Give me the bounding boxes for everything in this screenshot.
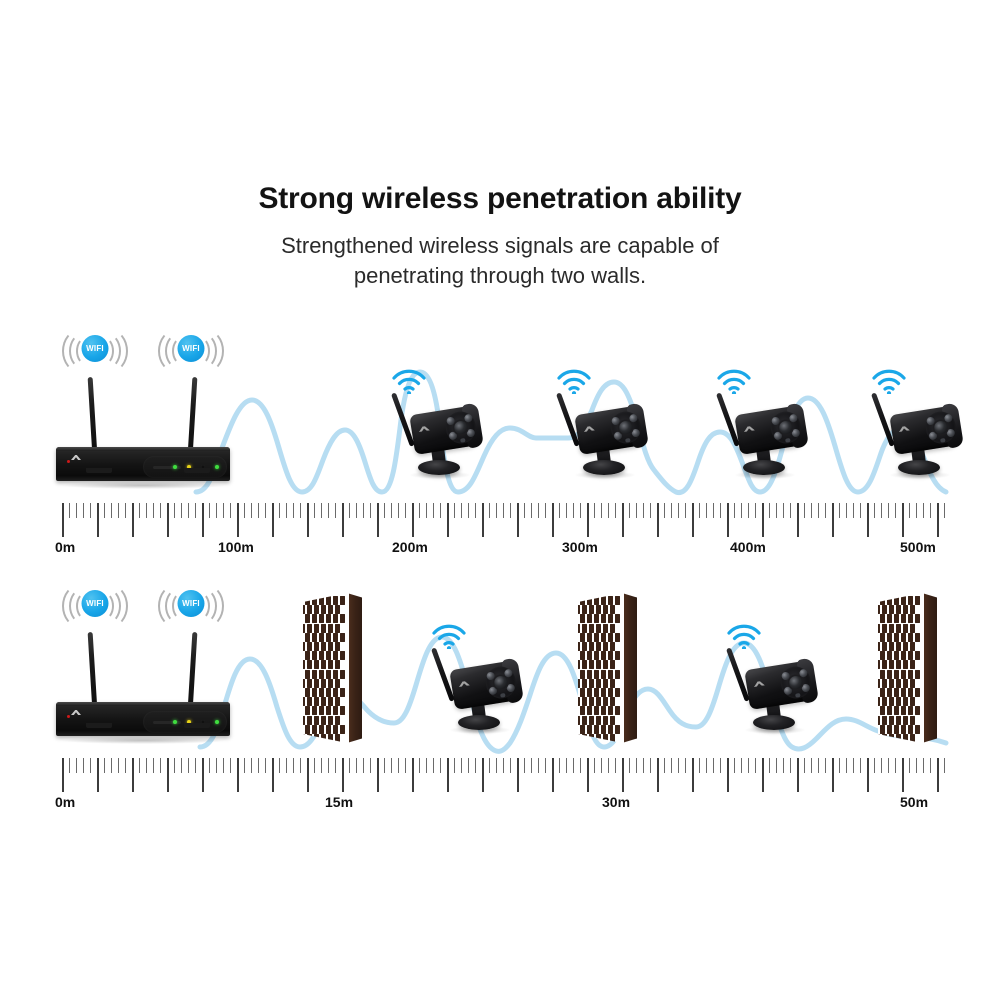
brick (312, 651, 317, 660)
brick (314, 734, 319, 743)
ruler-tick-minor (335, 758, 336, 773)
ruler-tick-major (482, 503, 484, 537)
brick (303, 697, 305, 706)
brick-row (878, 624, 915, 633)
brick (335, 734, 340, 743)
brick (333, 725, 338, 734)
brick (580, 670, 585, 679)
ruler-tick-minor (349, 758, 350, 773)
brick-row (580, 596, 620, 605)
ruler-tick-major (412, 758, 414, 792)
brick (319, 670, 324, 679)
brick (901, 688, 906, 697)
ruler-tick-minor (573, 758, 574, 773)
brick (328, 697, 333, 706)
ruler-tick-minor (384, 758, 385, 773)
ruler-tick-minor (496, 758, 497, 773)
ruler-tick-minor (391, 758, 392, 773)
ruler-tick-minor (433, 758, 434, 773)
ruler-tick-minor (440, 503, 441, 518)
ruler-tick-minor (811, 758, 812, 773)
brick (901, 670, 906, 679)
ruler-tick-minor (461, 503, 462, 518)
light-sensor (625, 438, 631, 443)
ruler-tick-minor (860, 758, 861, 773)
brick (580, 706, 585, 715)
brick-row (880, 706, 920, 715)
brick (903, 605, 908, 614)
ruler-tick-minor (783, 503, 784, 518)
brick (889, 624, 894, 633)
brick (601, 614, 606, 623)
light-sensor (940, 438, 946, 443)
brick (903, 716, 908, 725)
brick (340, 596, 345, 605)
ruler-tick-minor (601, 758, 602, 773)
brick (601, 670, 606, 679)
brick-row (578, 679, 615, 688)
brick (610, 605, 615, 614)
brick (896, 660, 901, 669)
brick (319, 614, 324, 623)
brick-row (305, 633, 345, 642)
brick-row (305, 596, 345, 605)
brick-row (880, 614, 920, 623)
brick (894, 596, 899, 605)
brick (578, 697, 580, 706)
ruler-tick-major (867, 758, 869, 792)
brand-logo-icon (67, 710, 89, 717)
ruler-tick-minor (874, 758, 875, 773)
camera-mount-base (418, 460, 460, 475)
nvr-model-text (153, 721, 181, 724)
ruler-tick-minor (846, 758, 847, 773)
brick (328, 716, 333, 725)
nvr-antenna-left (88, 377, 97, 449)
brick (582, 679, 587, 688)
camera-brand-logo-icon (418, 425, 430, 432)
brick (878, 624, 880, 633)
brick (887, 633, 892, 642)
brick (328, 679, 333, 688)
ruler-tick-minor (559, 503, 560, 518)
ruler-tick-major (482, 758, 484, 792)
brick (882, 679, 887, 688)
ruler-tick-minor (146, 758, 147, 773)
ruler-tick-major (62, 758, 64, 792)
ruler-tick-minor (594, 503, 595, 518)
ruler-tick-major (307, 503, 309, 537)
brick (587, 651, 592, 660)
brick (326, 633, 331, 642)
ruler-tick-minor (174, 758, 175, 773)
wifi-signal-icon (870, 366, 908, 394)
brick (903, 679, 908, 688)
brick (582, 734, 587, 743)
nvr-foot-right (184, 468, 210, 473)
ruler-tick-minor (573, 503, 574, 518)
distance-ruler-row1: 0m100m200m300m400m500m (0, 503, 1000, 563)
ruler-tick-minor (678, 503, 679, 518)
brick (889, 679, 894, 688)
ruler-tick-minor (594, 758, 595, 773)
ruler-label: 30m (602, 794, 630, 810)
ruler-tick-minor (398, 758, 399, 773)
ruler-tick-minor (608, 503, 609, 518)
ruler-tick-minor (195, 503, 196, 518)
brick-row (580, 633, 620, 642)
light-sensor (460, 438, 466, 443)
page-subtitle-line-1: Strengthened wireless signals are capabl… (0, 231, 1000, 261)
brick (901, 614, 906, 623)
ruler-tick-minor (440, 758, 441, 773)
ruler-tick-minor (188, 503, 189, 518)
ruler-tick-minor (391, 503, 392, 518)
ruler-tick-major (517, 503, 519, 537)
logo-mark (71, 455, 81, 460)
wireless-camera-row1-3[interactable] (717, 368, 813, 493)
ruler-tick-minor (706, 503, 707, 518)
ruler-tick-minor (76, 503, 77, 518)
ruler-tick-minor (111, 503, 112, 518)
wifi-badge-left: WIFI (56, 329, 134, 371)
brick (326, 614, 331, 623)
brick (333, 614, 338, 623)
nvr-foot-left (86, 723, 112, 728)
brick (321, 624, 326, 633)
ruler-tick-minor (846, 503, 847, 518)
brick (314, 660, 319, 669)
ruler-tick-minor (930, 758, 931, 773)
brick (887, 614, 892, 623)
ruler-tick-major (692, 503, 694, 537)
brick (321, 716, 326, 725)
ruler-tick-minor (510, 758, 511, 773)
brick (896, 679, 901, 688)
brick (889, 605, 894, 614)
ruler-tick-major (762, 758, 764, 792)
ruler-tick-minor (139, 503, 140, 518)
brick (587, 670, 592, 679)
brick (319, 633, 324, 642)
wifi-badge-left: WIFI (56, 584, 134, 626)
wifi-badge-icon: WIFI (178, 590, 205, 617)
brick-row (305, 670, 345, 679)
ruler-tick-minor (538, 758, 539, 773)
brick (307, 697, 312, 706)
brick (580, 614, 585, 623)
camera-brand-logo-icon (743, 425, 755, 432)
ruler-tick-minor (328, 758, 329, 773)
ruler-tick-minor (363, 503, 364, 518)
brick (887, 651, 892, 660)
brick (915, 633, 920, 642)
brick (578, 716, 580, 725)
brick-row (303, 642, 340, 651)
wireless-camera-row1-4[interactable] (872, 368, 968, 493)
ruler-tick-minor (881, 758, 882, 773)
ruler-tick-minor (566, 503, 567, 518)
ruler-tick-minor (580, 758, 581, 773)
brick (601, 706, 606, 715)
brick (580, 633, 585, 642)
brick-row (578, 660, 615, 669)
brick (601, 633, 606, 642)
brick (582, 660, 587, 669)
brick (594, 706, 599, 715)
brick (326, 670, 331, 679)
brick (321, 605, 326, 614)
ruler-tick-minor (769, 758, 770, 773)
ruler-tick-minor (251, 503, 252, 518)
ruler-tick-major (552, 503, 554, 537)
brick (889, 734, 894, 743)
brick (596, 605, 601, 614)
brick (610, 642, 615, 651)
brick (307, 716, 312, 725)
ir-led-top-right (629, 414, 638, 423)
brick (314, 679, 319, 688)
ruler-tick-minor (489, 503, 490, 518)
brick (303, 734, 305, 743)
ruler-tick-minor (454, 758, 455, 773)
ruler-tick-minor (734, 758, 735, 773)
page-subtitle: Strengthened wireless signals are capabl… (0, 231, 1000, 292)
ruler-tick-minor (685, 758, 686, 773)
wifi-badge-right: WIFI (152, 584, 230, 626)
ruler-tick-minor (769, 503, 770, 518)
brick (882, 660, 887, 669)
ruler-tick-minor (839, 503, 840, 518)
camera-barrel (449, 660, 520, 710)
brick (305, 706, 310, 715)
brick (596, 734, 601, 743)
brick (603, 734, 608, 743)
brick (910, 716, 915, 725)
brick (887, 725, 892, 734)
ruler-tick-major (797, 503, 799, 537)
ruler-tick-minor (629, 758, 630, 773)
brick (321, 734, 326, 743)
ruler-tick-minor (209, 503, 210, 518)
ruler-tick-minor (160, 758, 161, 773)
brick-row (880, 633, 920, 642)
ruler-tick-minor (146, 503, 147, 518)
brick (303, 624, 305, 633)
brick (594, 614, 599, 623)
brick (610, 660, 615, 669)
brick (326, 688, 331, 697)
brick (589, 624, 594, 633)
ruler-tick-minor (356, 503, 357, 518)
ruler-tick-minor (510, 503, 511, 518)
ruler-tick-minor (314, 503, 315, 518)
brick (305, 688, 310, 697)
brick (878, 734, 880, 743)
brick (915, 706, 920, 715)
ruler-tick-minor (419, 758, 420, 773)
ruler-tick-major (657, 503, 659, 537)
brick-row (878, 642, 915, 651)
ruler-label: 200m (392, 539, 428, 555)
brick (333, 596, 338, 605)
brick (880, 614, 885, 623)
brick (903, 660, 908, 669)
ruler-ticks-row2 (0, 758, 1000, 792)
ruler-tick-minor (475, 503, 476, 518)
brick (908, 633, 913, 642)
ir-led-top-right (944, 414, 953, 423)
ruler-tick-minor (755, 503, 756, 518)
wireless-camera-row2-2[interactable] (727, 623, 823, 748)
nvr-led-network (215, 720, 219, 724)
ruler-tick-minor (874, 503, 875, 518)
row2-device-layer: WIFI WIFI (0, 575, 1000, 760)
brick-row (305, 725, 345, 734)
camera-mount-base (898, 460, 940, 475)
brick (589, 605, 594, 614)
ruler-tick-minor (216, 758, 217, 773)
ruler-tick-minor (685, 503, 686, 518)
brick (319, 725, 324, 734)
brick (589, 660, 594, 669)
ruler-tick-minor (398, 503, 399, 518)
ruler-tick-major (762, 503, 764, 537)
ruler-tick-minor (475, 758, 476, 773)
ruler-tick-minor (706, 758, 707, 773)
ruler-tick-minor (286, 758, 287, 773)
camera-brand-logo-icon (458, 680, 470, 687)
brick-row (578, 605, 615, 614)
brick (882, 605, 887, 614)
ruler-tick-major (237, 758, 239, 792)
ruler-tick-major (622, 503, 624, 537)
camera-brand-logo-icon (898, 425, 910, 432)
ruler-tick-minor (636, 758, 637, 773)
brick (578, 734, 580, 743)
ruler-tick-minor (223, 503, 224, 518)
ruler-tick-minor (524, 503, 525, 518)
brick (603, 642, 608, 651)
wifi-signal-icon (725, 621, 763, 649)
brick (321, 660, 326, 669)
ruler-tick-minor (160, 503, 161, 518)
brick (582, 605, 587, 614)
ruler-tick-minor (545, 758, 546, 773)
brick (903, 734, 908, 743)
ruler-tick-minor (643, 503, 644, 518)
ruler-tick-minor (916, 503, 917, 518)
brick-wall-2 (578, 593, 640, 743)
brick (340, 670, 345, 679)
wireless-camera-row1-2[interactable] (557, 368, 653, 493)
ruler-tick-major (727, 758, 729, 792)
brick-row (880, 596, 920, 605)
ruler-tick-minor (104, 503, 105, 518)
ruler-tick-minor (328, 503, 329, 518)
ruler-tick-minor (720, 758, 721, 773)
ruler-tick-minor (853, 758, 854, 773)
brick (603, 716, 608, 725)
brick (887, 596, 892, 605)
ruler-tick-minor (895, 503, 896, 518)
wireless-camera-row1-1[interactable] (392, 368, 488, 493)
ruler-tick-minor (755, 758, 756, 773)
ruler-tick-minor (195, 758, 196, 773)
brick (587, 633, 592, 642)
wifi-signal-icon (430, 621, 468, 649)
brick (887, 688, 892, 697)
ruler-tick-minor (230, 503, 231, 518)
nvr-foot-left (86, 468, 112, 473)
brick (901, 596, 906, 605)
brick (901, 706, 906, 715)
brick (333, 688, 338, 697)
ruler-tick-minor (944, 758, 945, 773)
brick (589, 642, 594, 651)
ruler-tick-major (867, 503, 869, 537)
ruler-label: 50m (900, 794, 928, 810)
brick-row (305, 706, 345, 715)
brick-row (303, 660, 340, 669)
brick (878, 660, 880, 669)
brick-row (880, 688, 920, 697)
ruler-tick-major (342, 758, 344, 792)
nvr-recorder-row2[interactable]: WIFI WIFI (48, 585, 238, 750)
ruler-tick-minor (790, 758, 791, 773)
brick-row (878, 716, 915, 725)
nvr-recorder-row1[interactable]: WIFI WIFI (48, 330, 238, 495)
brick-row (578, 697, 615, 706)
brick (910, 642, 915, 651)
brick (312, 706, 317, 715)
brick (335, 660, 340, 669)
brick (894, 706, 899, 715)
brick-row (578, 624, 615, 633)
wifi-signal-icon (555, 366, 593, 394)
ruler-tick-major (377, 758, 379, 792)
brick (312, 688, 317, 697)
ruler-tick-major (552, 758, 554, 792)
ruler-tick-major (902, 503, 904, 537)
ruler-tick-minor (503, 758, 504, 773)
brick (615, 651, 620, 660)
brick (878, 716, 880, 725)
brick (580, 725, 585, 734)
brick (894, 725, 899, 734)
ruler-tick-minor (741, 758, 742, 773)
brick (878, 642, 880, 651)
brick-row (303, 734, 340, 743)
row1-device-layer: WIFI WIFI (0, 320, 1000, 505)
camera-barrel (409, 405, 480, 455)
ruler-tick-minor (139, 758, 140, 773)
ruler-tick-major (202, 758, 204, 792)
brick (314, 716, 319, 725)
ruler-tick-minor (923, 758, 924, 773)
wireless-camera-row2-1[interactable] (432, 623, 528, 748)
ruler-tick-minor (384, 503, 385, 518)
ruler-tick-major (622, 758, 624, 792)
brick (333, 670, 338, 679)
brick-row (580, 725, 620, 734)
ruler-label: 15m (325, 794, 353, 810)
brick (305, 651, 310, 660)
ruler-tick-minor (580, 503, 581, 518)
brick (594, 596, 599, 605)
ruler-tick-minor (349, 503, 350, 518)
brick (608, 725, 613, 734)
